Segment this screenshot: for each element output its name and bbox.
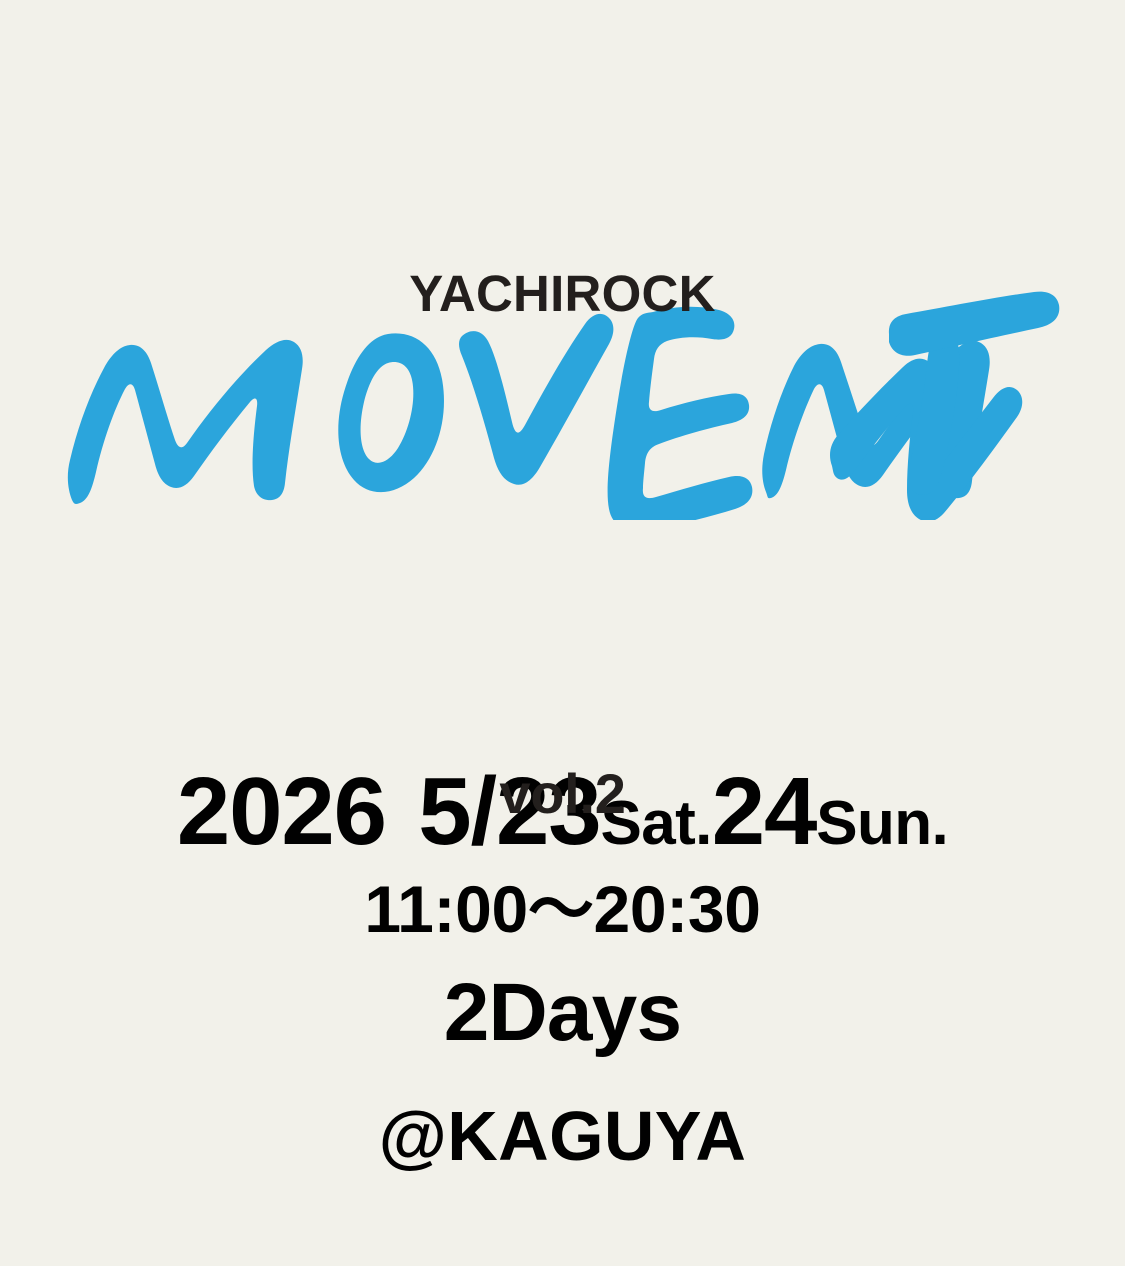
volume-label: vol.2 [0, 766, 1125, 822]
event-time: 11:00〜20:30 [0, 875, 1125, 944]
event-duration: 2Days [0, 970, 1125, 1056]
movement-wordmark [58, 290, 1068, 520]
poster-canvas: YACHIROCK [0, 0, 1125, 1266]
logo-lockup: YACHIROCK [0, 268, 1125, 588]
event-venue: @KAGUYA [0, 1100, 1125, 1174]
brand-name: YACHIROCK [0, 268, 1125, 319]
